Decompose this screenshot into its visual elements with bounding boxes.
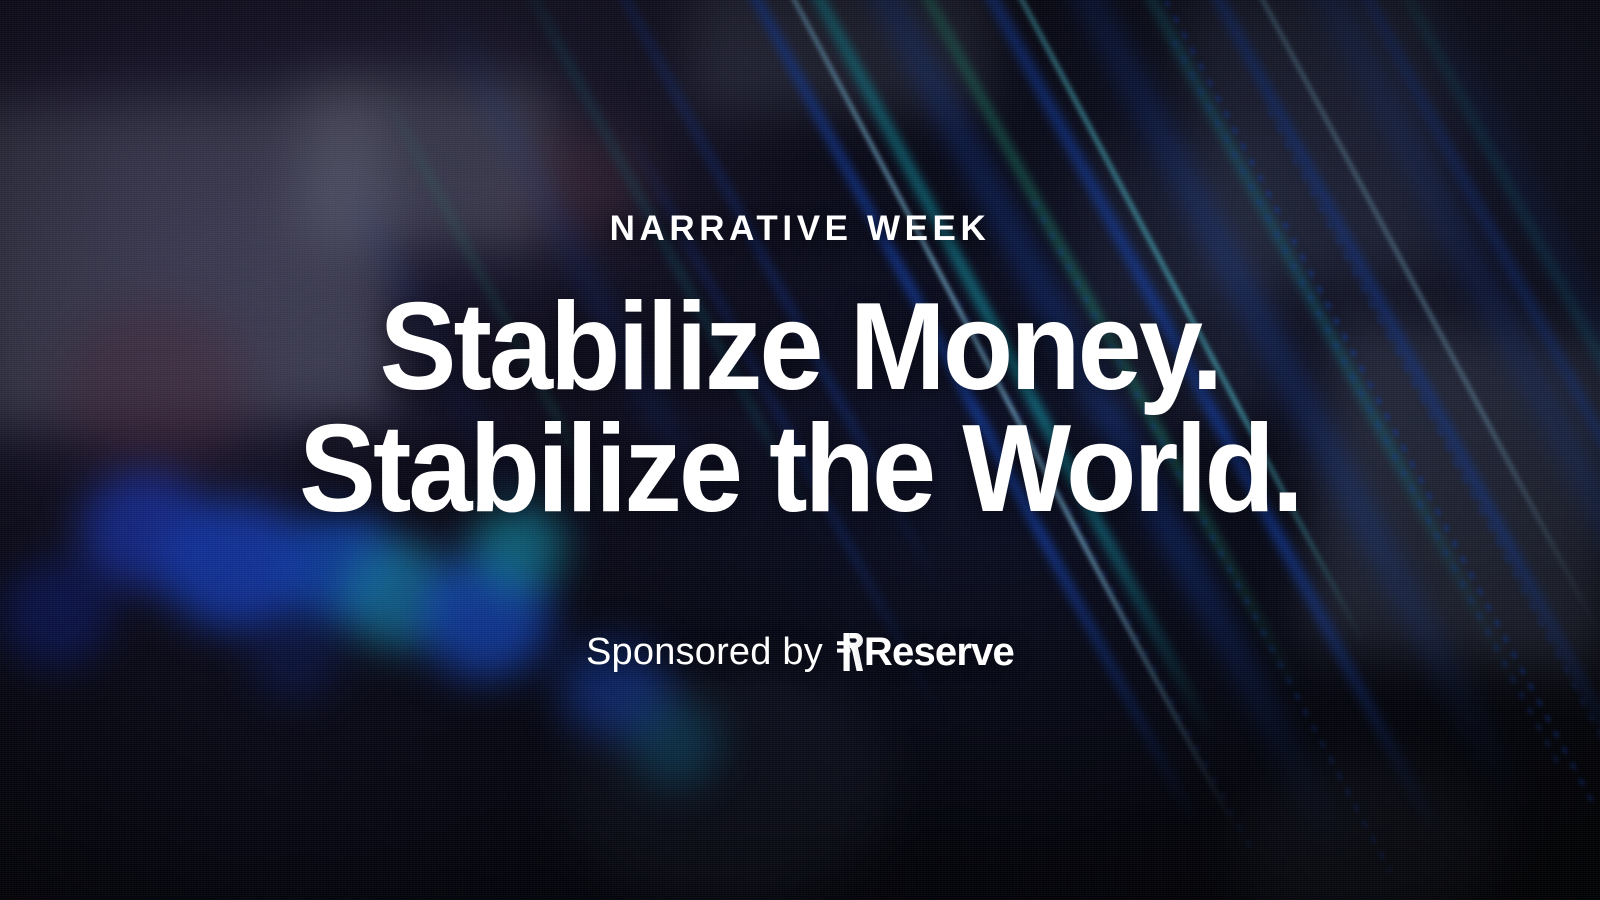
sponsor-lockup: Sponsored by Reserve: [0, 629, 1600, 675]
narrative-week-banner: NARRATIVE WEEK Stabilize Money. Stabiliz…: [0, 0, 1600, 900]
page-title: Stabilize Money. Stabilize the World.: [56, 286, 1544, 530]
reserve-logo[interactable]: Reserve: [837, 630, 1014, 674]
reserve-wordmark-text: Reserve: [864, 630, 1014, 674]
eyebrow-label: NARRATIVE WEEK: [0, 211, 1600, 246]
banner-content: NARRATIVE WEEK Stabilize Money. Stabiliz…: [0, 0, 1600, 900]
headline-line-2: Stabilize the World.: [56, 408, 1544, 530]
sponsor-prefix-label: Sponsored by: [586, 629, 823, 675]
headline-line-1: Stabilize Money.: [56, 286, 1544, 408]
reserve-r-currency-mark: [837, 633, 863, 671]
